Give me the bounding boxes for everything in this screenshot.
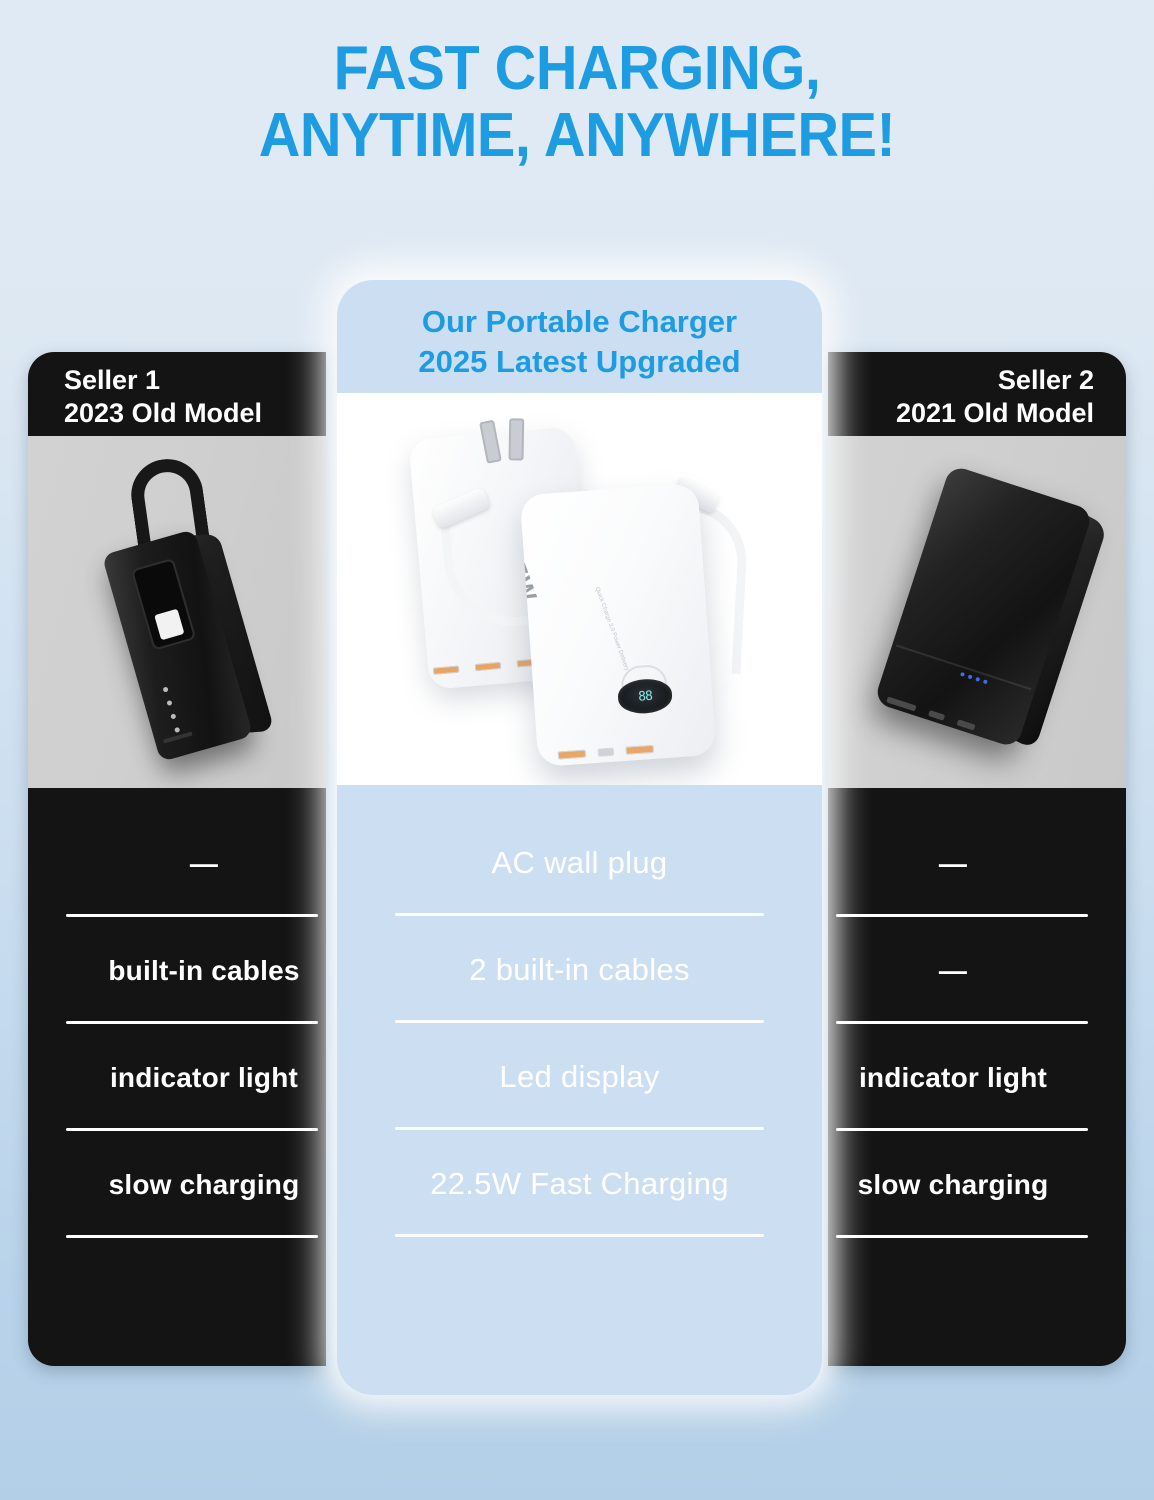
- seller-2-product-photo: [828, 436, 1126, 788]
- feature-label: slow charging: [109, 1169, 300, 1201]
- featured-card-header: Our Portable Charger 2025 Latest Upgrade…: [337, 280, 822, 393]
- feature-row: 22.5W Fast Charging: [337, 1130, 822, 1237]
- seller-1-header: Seller 1 2023 Old Model: [28, 352, 326, 436]
- seller-2-model: 2021 Old Model: [896, 397, 1094, 430]
- feature-row: 2 built-in cables: [337, 916, 822, 1023]
- feature-row: AC wall plug: [337, 809, 822, 916]
- feature-row: slow charging: [828, 1131, 1126, 1238]
- page-headline: FAST CHARGING, ANYTIME, ANYWHERE!: [40, 36, 1113, 170]
- led-display-value: 88: [638, 689, 653, 705]
- ac-wall-plug-prongs-icon: [475, 417, 545, 467]
- feature-label: AC wall plug: [492, 845, 668, 881]
- feature-label: indicator light: [859, 1062, 1047, 1094]
- featured-product-photo: 22.5W Quick Charge 3.0 Power Delivery 88: [337, 393, 822, 785]
- feature-label: slow charging: [858, 1169, 1049, 1201]
- feature-divider: [66, 1235, 318, 1238]
- headline-line-1: FAST CHARGING,: [334, 34, 821, 103]
- black-slim-power-bank-icon: [833, 444, 1126, 788]
- seller-2-feature-list: — — indicator light slow charging: [828, 788, 1126, 1238]
- feature-label: —: [939, 955, 967, 987]
- seller-2-header: Seller 2 2021 Old Model: [828, 352, 1126, 436]
- seller-1-feature-list: — built-in cables indicator light slow c…: [28, 788, 326, 1238]
- feature-label: indicator light: [110, 1062, 298, 1094]
- product-fine-print: Quick Charge 3.0 Power Delivery: [592, 586, 631, 672]
- led-display-assembly: 88: [614, 664, 675, 720]
- feature-row: —: [828, 917, 1126, 1024]
- feature-row: —: [28, 810, 326, 917]
- headline-line-2: ANYTIME, ANYWHERE!: [40, 103, 1113, 170]
- feature-label: Led display: [499, 1059, 659, 1095]
- feature-divider: [395, 1234, 764, 1237]
- feature-label: 2 built-in cables: [469, 952, 690, 988]
- seller-2-title: Seller 2: [998, 364, 1094, 397]
- featured-feature-list: AC wall plug 2 built-in cables Led displ…: [337, 785, 822, 1237]
- featured-title-line-2: 2025 Latest Upgraded: [347, 342, 812, 382]
- seller-1-model: 2023 Old Model: [64, 397, 262, 430]
- front-device-body: 22.5W Quick Charge 3.0 Power Delivery 88: [520, 483, 717, 767]
- feature-label: —: [939, 848, 967, 880]
- feature-row: indicator light: [28, 1024, 326, 1131]
- featured-product-card: Our Portable Charger 2025 Latest Upgrade…: [337, 280, 822, 1395]
- led-display-icon: 88: [617, 678, 673, 716]
- black-mini-power-bank-icon: [46, 438, 317, 788]
- feature-row: built-in cables: [28, 917, 326, 1024]
- usb-a-port: [558, 750, 586, 760]
- feature-row: —: [828, 810, 1126, 917]
- comparison-panel-seller-2: Seller 2 2021 Old Model — — indicator li…: [828, 352, 1126, 1366]
- feature-label: built-in cables: [108, 955, 299, 987]
- usb-c-port: [598, 748, 615, 757]
- feature-label: —: [190, 848, 218, 880]
- white-power-bank-pair-icon: 22.5W Quick Charge 3.0 Power Delivery 88: [397, 411, 767, 771]
- front-port-row: [558, 745, 654, 760]
- feature-row: slow charging: [28, 1131, 326, 1238]
- comparison-panel-seller-1: Seller 1 2023 Old Model — built-in cable…: [28, 352, 326, 1366]
- feature-label: 22.5W Fast Charging: [430, 1166, 729, 1202]
- feature-row: indicator light: [828, 1024, 1126, 1131]
- seller-1-title: Seller 1: [64, 364, 160, 397]
- seller-1-product-photo: [28, 436, 326, 788]
- feature-divider: [836, 1235, 1088, 1238]
- featured-title-line-1: Our Portable Charger: [347, 302, 812, 342]
- usb-a-port-2: [626, 745, 654, 755]
- feature-row: Led display: [337, 1023, 822, 1130]
